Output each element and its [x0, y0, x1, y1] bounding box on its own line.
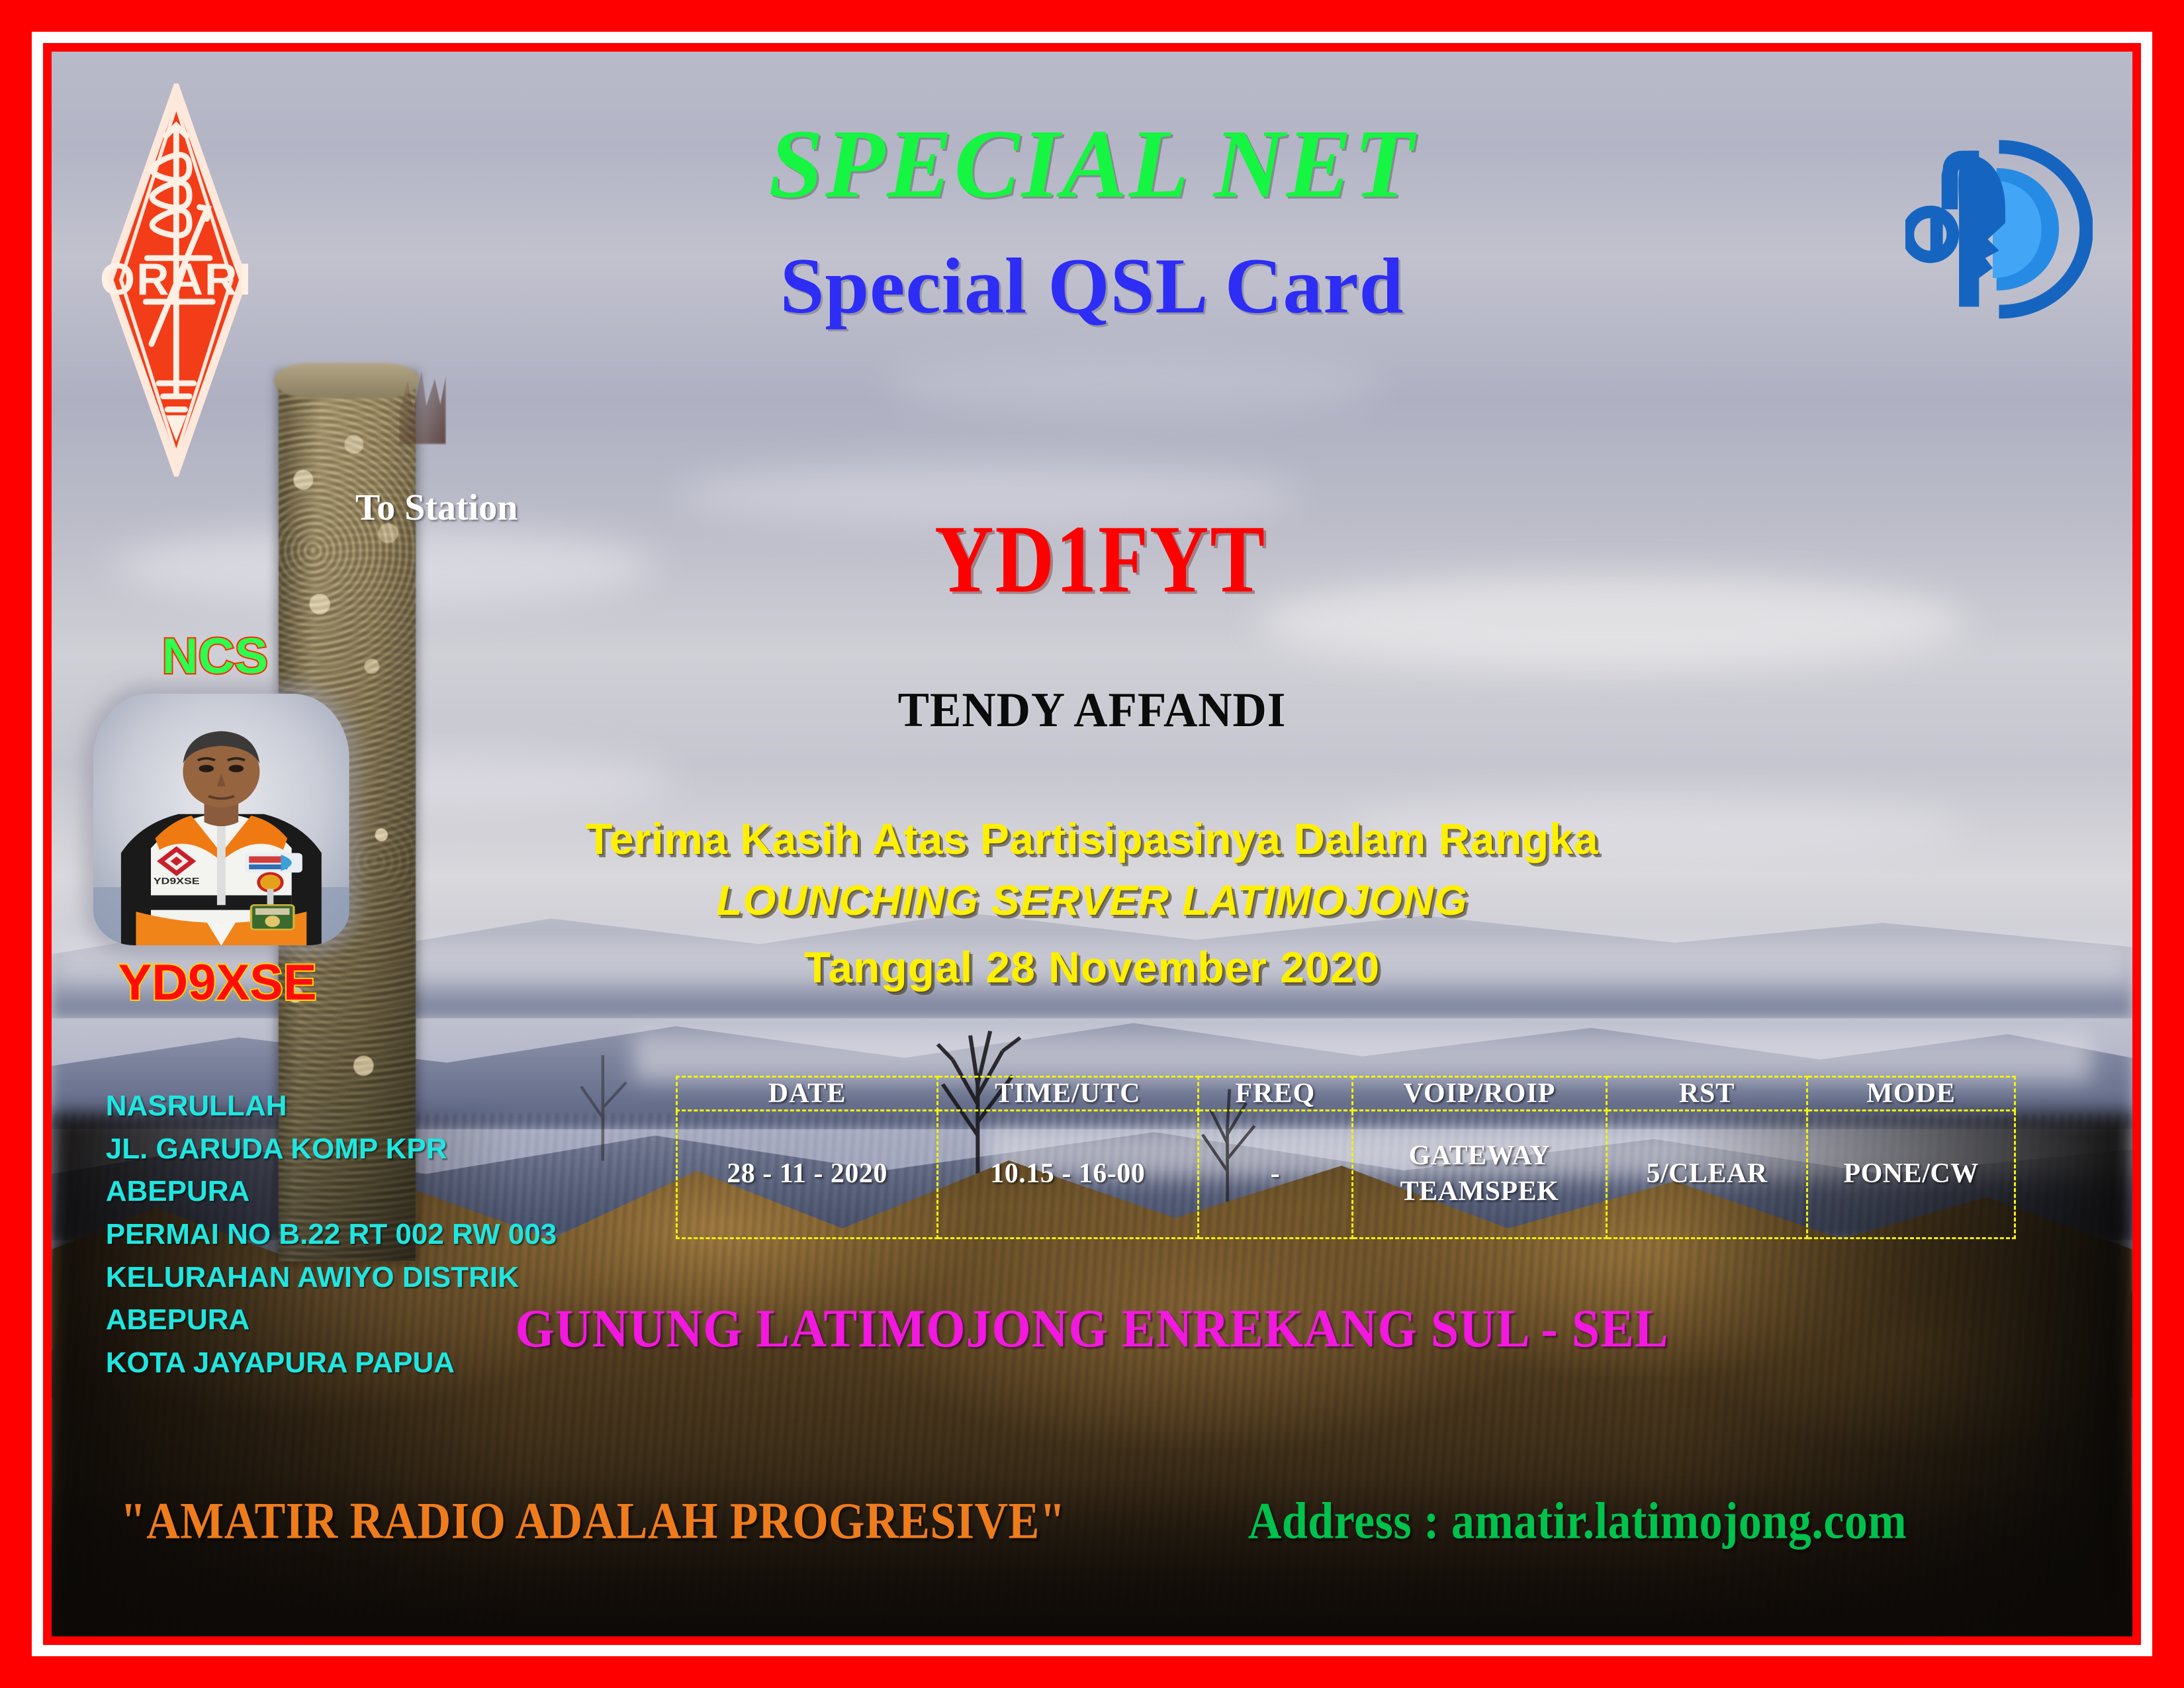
cloud-shape [884, 353, 1384, 416]
footer-motto: "AMATIR RADIO ADALAH PROGRESIVE" [120, 1496, 1066, 1548]
recipient-callsign-text: YD1FYT [934, 511, 1266, 608]
footer-web-address: Address : amatir.latimojong.com [1248, 1496, 1907, 1548]
subhead-special-qsl-card: Special QSL Card [52, 246, 2132, 326]
thanks-line: Terima Kasih Atas Partisipasinya Dalam R… [52, 817, 2132, 861]
recipient-callsign: YD1FYT [52, 511, 2132, 608]
cell-voip-line2: TEAMSPEK [1353, 1174, 1606, 1210]
cell-mode: PONE/CW [1807, 1110, 2015, 1239]
column-header-mode: MODE [1807, 1076, 2015, 1110]
qsl-card: ORARI [0, 0, 2184, 1688]
event-line: LOUNCHING SERVER LATIMOJONG [52, 879, 2132, 921]
cell-date: 28 - 11 - 2020 [677, 1110, 938, 1239]
column-header-voip: VOIP/ROIP [1353, 1076, 1607, 1110]
address-line: JL. GARUDA KOMP KPR [106, 1128, 557, 1171]
location-line: GUNUNG LATIMOJONG ENREKANG SUL - SEL [52, 1301, 2132, 1356]
column-header-freq: FREQ [1198, 1076, 1352, 1110]
cell-freq: - [1198, 1110, 1352, 1239]
ncs-label: NCS [162, 632, 268, 682]
cell-rst: 5/CLEAR [1606, 1110, 1807, 1239]
column-header-rst: RST [1606, 1076, 1807, 1110]
table-row: 28 - 11 - 2020 10.15 - 16-00 - GATEWAY T… [677, 1110, 2015, 1239]
column-header-date: DATE [677, 1076, 938, 1110]
address-line: ABEPURA [106, 1170, 557, 1213]
ncs-callsign: YD9XSE [118, 958, 317, 1008]
card-background-photo: ORARI [52, 52, 2132, 1636]
pillar-cap [274, 363, 420, 399]
address-line: KELURAHAN AWIYO DISTRIK [106, 1256, 557, 1299]
address-line: PERMAI NO B.22 RT 002 RW 003 [106, 1213, 557, 1256]
cell-voip: GATEWAY TEAMSPEK [1353, 1110, 1607, 1239]
headline-special-net: SPECIAL NET [52, 115, 2132, 213]
qso-details-table: DATE TIME/UTC FREQ VOIP/ROIP RST MODE 28… [676, 1076, 2016, 1240]
valley-mist [634, 1034, 2091, 1082]
address-line: NASRULLAH [106, 1085, 557, 1128]
operator-name: TENDY AFFANDI [93, 686, 2091, 735]
table-header-row: DATE TIME/UTC FREQ VOIP/ROIP RST MODE [677, 1076, 2015, 1110]
cell-time: 10.15 - 16-00 [937, 1110, 1198, 1239]
cell-voip-line1: GATEWAY [1353, 1139, 1606, 1174]
column-header-time: TIME/UTC [937, 1076, 1198, 1110]
event-date-line: Tanggal 28 November 2020 [52, 945, 2132, 989]
